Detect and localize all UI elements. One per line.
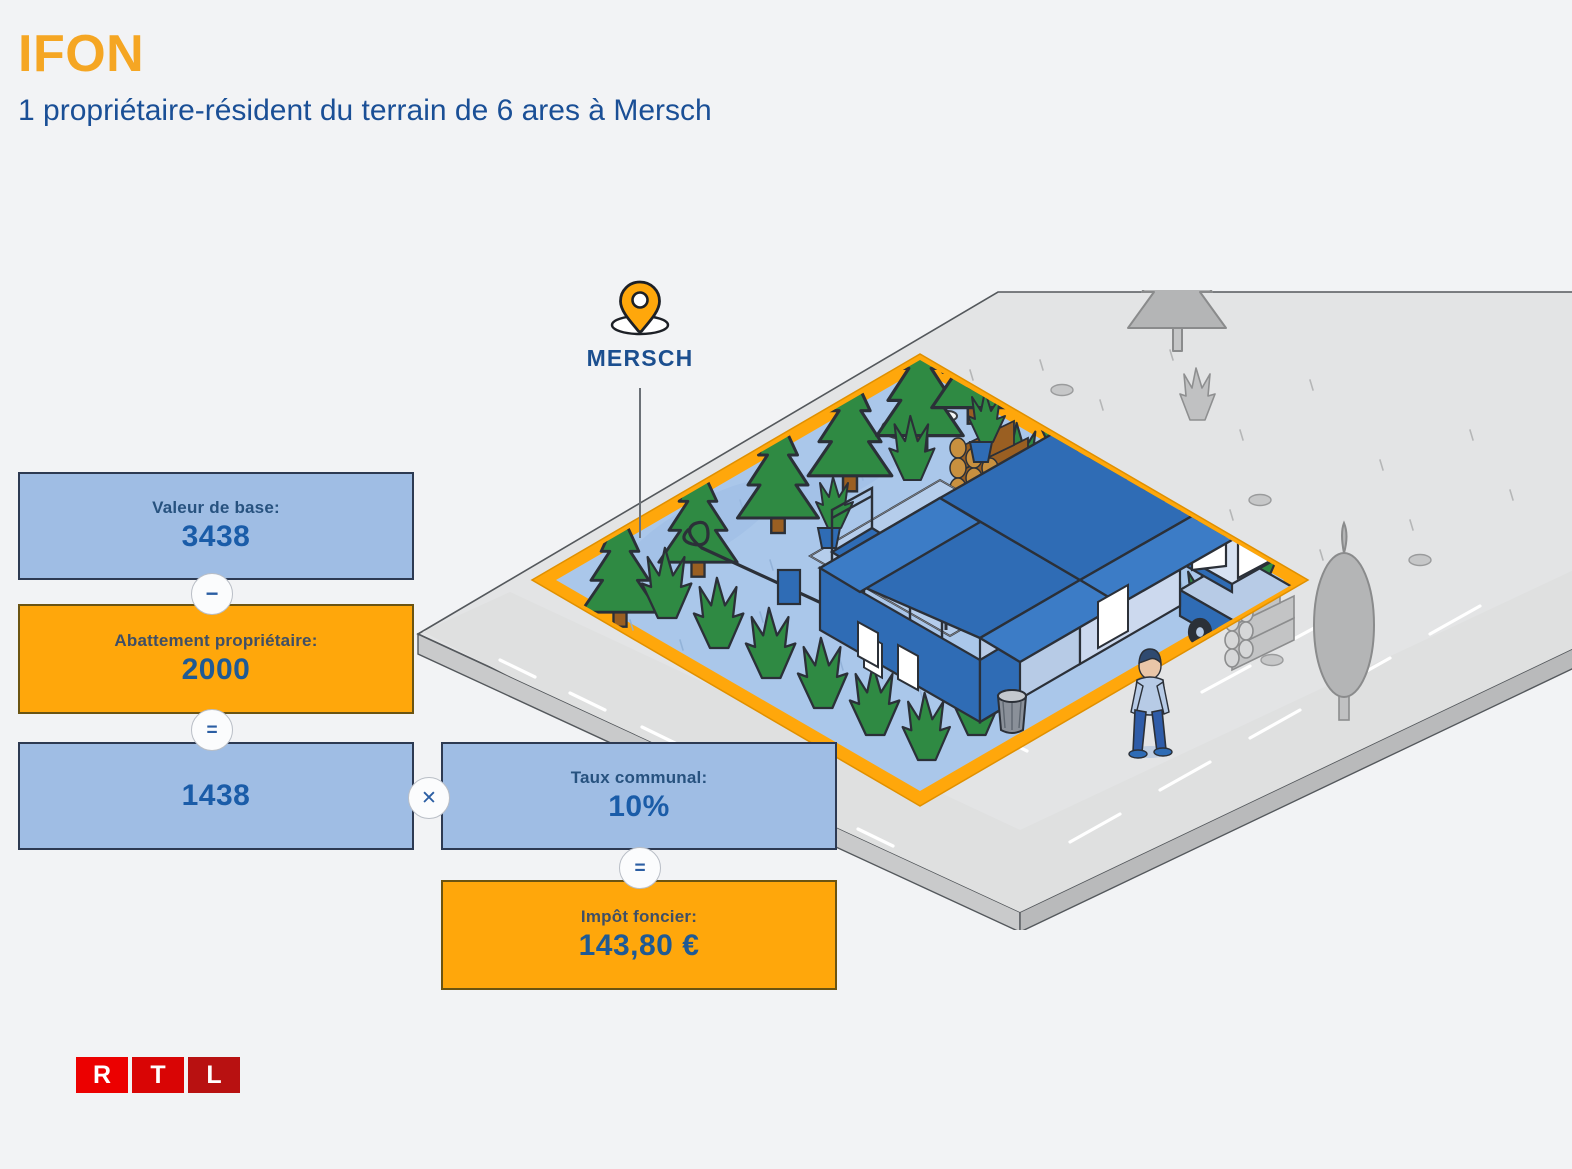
operator-equals: = bbox=[191, 709, 233, 751]
operator-minus: − bbox=[191, 573, 233, 615]
map-marker-label: MERSCH bbox=[575, 345, 705, 372]
calc-box-value: 10% bbox=[608, 790, 670, 824]
operator-symbol: − bbox=[206, 583, 219, 605]
calc-box-taux-communal: Taux communal: 10% bbox=[441, 742, 837, 850]
operator-symbol: = bbox=[206, 721, 217, 740]
trash-bin bbox=[998, 690, 1026, 733]
operator-equals-2: = bbox=[619, 847, 661, 889]
page-subtitle: 1 propriétaire-résident du terrain de 6 … bbox=[18, 94, 712, 127]
calc-box-label: Valeur de base: bbox=[152, 498, 280, 518]
operator-multiply: ✕ bbox=[408, 777, 450, 819]
calc-box-value: 143,80 € bbox=[579, 929, 700, 963]
calc-box-value: 1438 bbox=[182, 779, 251, 813]
rtl-logo-letter-l: L bbox=[188, 1057, 240, 1093]
calc-box-abattement: Abattement propriétaire: 2000 bbox=[18, 604, 414, 714]
calc-box-value: 2000 bbox=[182, 653, 251, 687]
calc-box-impot-foncier: Impôt foncier: 143,80 € bbox=[441, 880, 837, 990]
rtl-logo-letter-t: T bbox=[132, 1057, 184, 1093]
marker-leader-line bbox=[639, 388, 641, 538]
rtl-logo-letter-r: R bbox=[76, 1057, 128, 1093]
calc-box-subtotal: 1438 bbox=[18, 742, 414, 850]
map-pin-icon bbox=[607, 278, 673, 336]
page-title: IFON bbox=[18, 28, 712, 80]
rtl-logo: R T L bbox=[76, 1057, 240, 1093]
calc-box-label: Abattement propriétaire: bbox=[114, 631, 317, 651]
calc-box-label: Taux communal: bbox=[571, 768, 708, 788]
page-header: IFON 1 propriétaire-résident du terrain … bbox=[18, 28, 712, 127]
operator-symbol: = bbox=[634, 859, 645, 878]
map-marker: MERSCH bbox=[575, 278, 705, 372]
calc-box-valeur-de-base: Valeur de base: 3438 bbox=[18, 472, 414, 580]
calc-box-value: 3438 bbox=[182, 520, 251, 554]
calc-box-label: Impôt foncier: bbox=[581, 907, 697, 927]
operator-symbol: ✕ bbox=[421, 789, 437, 808]
